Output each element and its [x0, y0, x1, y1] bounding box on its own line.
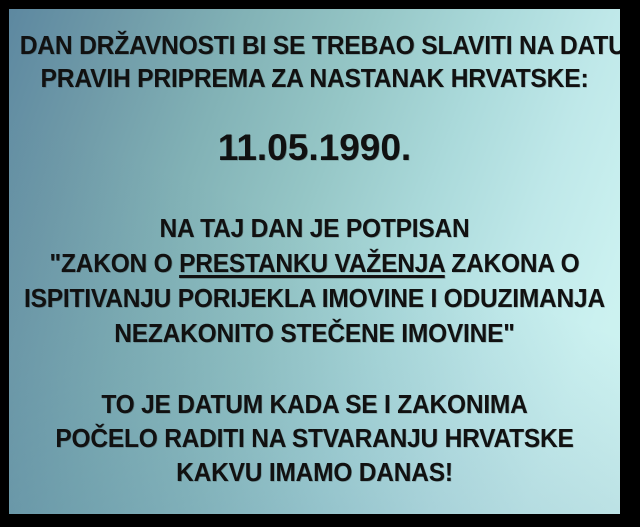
law-title-underlined: PRESTANKU VAŽENJA — [179, 250, 445, 278]
law-line-4: NEZAKONITO STEČENE IMOVINE" — [21, 317, 608, 352]
closing-line-3: KAKVU IMAMO DANAS! — [21, 456, 608, 490]
heading-line-1: DAN DRŽAVNOSTI BI SE TREBAO SLAVITI NA D… — [20, 30, 610, 63]
highlighted-date: 11.05.1990. — [9, 126, 620, 170]
law-line-3: ISPITIVANJU PORIJEKLA IMOVINE I ODUZIMAN… — [21, 282, 608, 317]
law-block: NA TAJ DAN JE POTPISAN "ZAKON O PRESTANK… — [9, 170, 620, 352]
closing-block: TO JE DATUM KADA SE I ZAKONIMA POČELO RA… — [9, 352, 620, 490]
law-line-2-prefix: "ZAKON O — [50, 250, 180, 278]
poster-background: DAN DRŽAVNOSTI BI SE TREBAO SLAVITI NA D… — [9, 9, 620, 514]
date-block: 11.05.1990. — [9, 96, 620, 170]
poster-content: DAN DRŽAVNOSTI BI SE TREBAO SLAVITI NA D… — [9, 9, 620, 514]
closing-line-2: POČELO RADITI NA STVARANJU HRVATSKE — [21, 422, 608, 456]
law-line-2-suffix: ZAKONA O — [445, 250, 580, 278]
heading-block: DAN DRŽAVNOSTI BI SE TREBAO SLAVITI NA D… — [9, 9, 620, 96]
poster-image: DAN DRŽAVNOSTI BI SE TREBAO SLAVITI NA D… — [0, 0, 640, 527]
law-line-2: "ZAKON O PRESTANKU VAŽENJA ZAKONA O — [21, 247, 608, 282]
law-line-1: NA TAJ DAN JE POTPISAN — [21, 212, 608, 247]
closing-line-1: TO JE DATUM KADA SE I ZAKONIMA — [21, 388, 608, 422]
heading-line-2: PRAVIH PRIPREMA ZA NASTANAK HRVATSKE: — [20, 63, 610, 96]
